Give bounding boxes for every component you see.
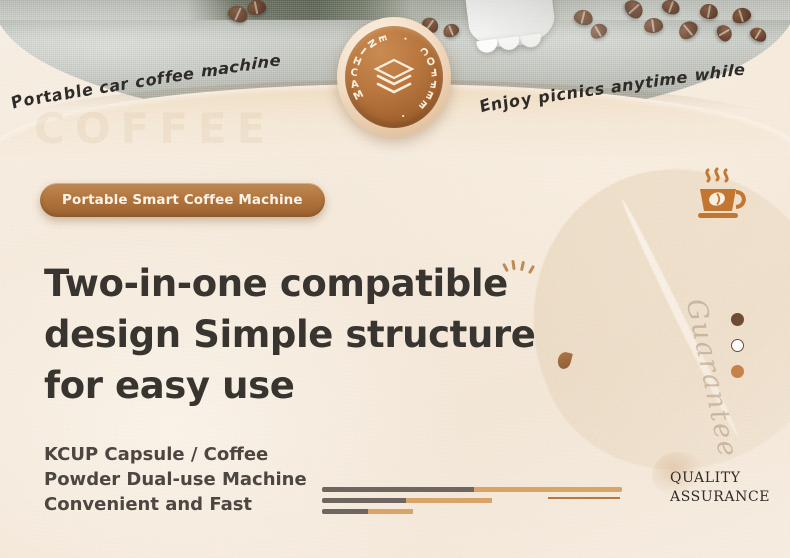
dot-indicator-group	[731, 313, 744, 391]
bar-segment-tan	[474, 487, 622, 492]
badge-ring-letter	[409, 107, 420, 116]
bar-segment-dark	[322, 498, 406, 503]
badge-ring-letter: M	[352, 89, 366, 103]
arc-letter: h	[240, 55, 252, 74]
arc-letter	[688, 67, 694, 86]
dot-white[interactable]	[731, 339, 744, 352]
dot-dark-brown[interactable]	[731, 313, 744, 326]
badge-ring-letter: ·	[398, 112, 410, 118]
arc-letter: h	[709, 63, 721, 82]
quality-assurance-label: QUALITY ASSURANCE	[670, 469, 770, 507]
background-word-watermark: COFFEE	[34, 104, 275, 153]
badge-ring-letter	[388, 35, 399, 39]
quality-divider-line	[548, 497, 620, 499]
stacked-diamond-layers-icon	[372, 57, 416, 97]
dot-orange[interactable]	[731, 365, 744, 378]
quality-line-1: QUALITY	[670, 469, 770, 488]
quality-line-2: ASSURANCE	[670, 488, 770, 507]
arc-letter: e	[733, 60, 745, 80]
promo-poster: Portable car coffee machine Enjoy picnic…	[0, 0, 790, 558]
arc-letter: c	[230, 57, 240, 76]
coffee-cup-icon	[690, 165, 752, 227]
arc-letter: e	[676, 68, 688, 87]
arc-letter: a	[218, 59, 230, 78]
arc-letter: w	[694, 65, 709, 84]
arc-letter: e	[183, 64, 196, 84]
badge-ring-letter: E	[375, 34, 388, 44]
badge-ring-letter: C	[350, 67, 358, 79]
product-category-pill[interactable]: Portable Smart Coffee Machine	[40, 183, 325, 217]
bar-segment-dark	[322, 487, 474, 492]
bar-segment-tan	[406, 498, 492, 503]
badge-ring-letter: F	[429, 77, 437, 89]
badge-ring-letter: F	[429, 66, 437, 78]
coffee-machine-seal-badge: MACHINE · COFFEE ·	[337, 17, 451, 137]
bar-segment-dark	[322, 509, 368, 514]
decorative-bar	[322, 509, 622, 514]
headline-text: Two-in-one compatible design Simple stru…	[44, 258, 574, 411]
arc-letter: e	[269, 51, 282, 71]
subtext-description: KCUP Capsule / Coffee Powder Dual-use Ma…	[44, 442, 344, 517]
bar-segment-tan	[368, 509, 413, 514]
decorative-bar	[322, 487, 622, 492]
arc-letter: m	[201, 61, 219, 81]
decorative-bars-group	[322, 487, 622, 520]
arc-letter: m	[659, 69, 677, 89]
badge-ring-letter: A	[350, 79, 360, 91]
badge-ring-letter: I	[358, 47, 368, 58]
